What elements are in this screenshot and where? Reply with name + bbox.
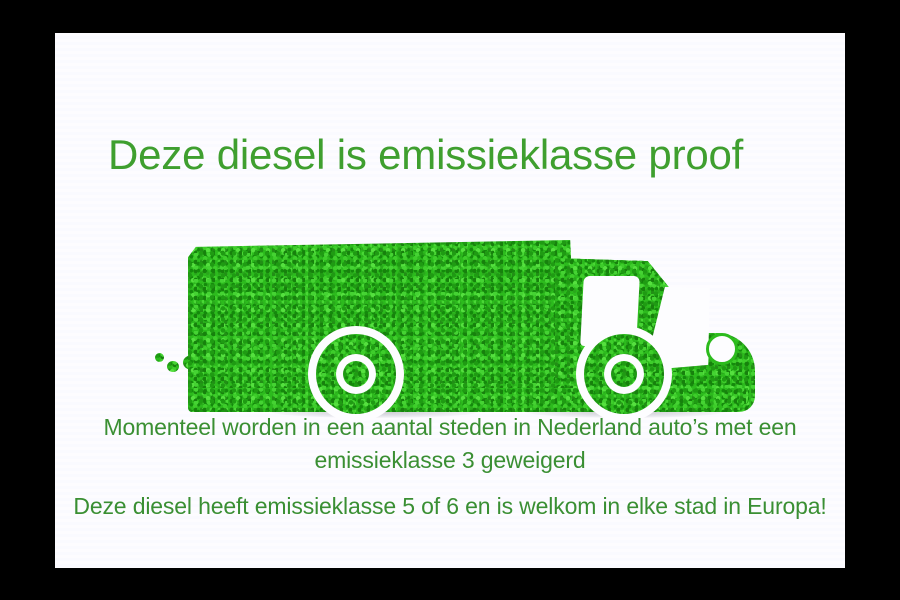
exhaust-puff-icon — [167, 361, 179, 372]
poster-frame: Deze diesel is emissieklasse proof — [0, 0, 900, 600]
van-illustration — [55, 183, 845, 433]
van-wing-mirror — [706, 333, 738, 365]
exhaust-puff-icon — [155, 353, 164, 362]
van-rear-hub — [343, 361, 369, 387]
page-title: Deze diesel is emissieklasse proof — [108, 131, 808, 179]
caption-line-one: Momenteel worden in een aantal steden in… — [55, 411, 845, 477]
poster-canvas: Deze diesel is emissieklasse proof — [55, 33, 845, 568]
van-front-hub — [611, 361, 637, 387]
caption-line-two: Deze diesel heeft emissieklasse 5 of 6 e… — [55, 490, 845, 523]
